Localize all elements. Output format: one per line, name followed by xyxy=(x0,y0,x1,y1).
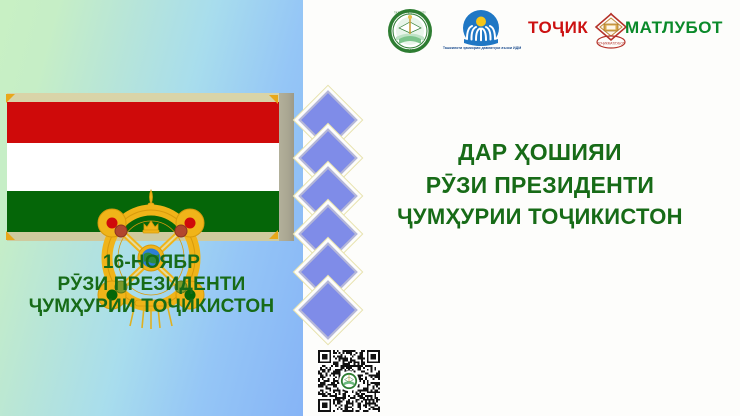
svg-text:OF COMMERCE: OF COMMERCE xyxy=(400,48,420,52)
flag-caption-line-1: 16-НОЯБР xyxy=(0,252,303,274)
svg-text:ТОҶИКМАТЛУБОТ: ТОҶИКМАТЛУБОТ xyxy=(597,41,625,45)
main-title-line-3: ҶУМҲУРИИ ТОҶИКИСТОН xyxy=(350,201,730,232)
diamond-decoration xyxy=(298,280,357,339)
svg-text:TAJIK STATE UNIVERSITY: TAJIK STATE UNIVERSITY xyxy=(394,11,426,15)
cis-blue-circle-icon xyxy=(458,9,504,47)
slide-canvas: 16-НОЯБР РӮЗИ ПРЕЗИДЕНТИ ҶУМҲУРИИ ТОҶИКИ… xyxy=(0,0,740,416)
header-logo-row: TAJIK STATE UNIVERSITY OF COMMERCE Ташки… xyxy=(380,4,700,60)
flag-caption-line-3: ҶУМҲУРИИ ТОҶИКИСТОН xyxy=(0,296,303,318)
flag-caption-line-2: РӮЗИ ПРЕЗИДЕНТИ xyxy=(0,274,303,296)
flag-band-red xyxy=(7,102,279,143)
tojikmatlubot-word-right: МАТЛУБОТ xyxy=(625,18,723,38)
tajikistan-presidential-standard xyxy=(7,93,294,241)
flag-caption: 16-НОЯБР РӮЗИ ПРЕЗИДЕНТИ ҶУМҲУРИИ ТОҶИКИ… xyxy=(0,252,303,318)
main-title-line-1: ДАР ҲОШИЯИ xyxy=(350,136,730,169)
flag-pole-edge xyxy=(279,93,294,241)
qr-code[interactable] xyxy=(318,350,380,412)
green-circular-seal-icon: TAJIK STATE UNIVERSITY OF COMMERCE xyxy=(387,8,433,54)
main-title-line-2: РӮЗИ ПРЕЗИДЕНТИ xyxy=(350,169,730,202)
cis-logo-caption: Ташкилоти ҳамкории давлатҳои аъзои ИДМ xyxy=(442,46,522,51)
tojikmatlubot-logo: ТОҶИК ТОҶИКМАТЛУБОТ МАТЛУБОТ xyxy=(528,12,696,50)
flag-band-white xyxy=(7,143,279,191)
qr-center-logo xyxy=(339,371,359,391)
main-title: ДАР ҲОШИЯИ РӮЗИ ПРЕЗИДЕНТИ ҶУМҲУРИИ ТОҶИ… xyxy=(350,136,730,233)
green-circular-seal-icon xyxy=(340,372,358,390)
diamond-core xyxy=(308,290,348,330)
tojikmatlubot-word-left: ТОҶИК xyxy=(528,18,588,38)
